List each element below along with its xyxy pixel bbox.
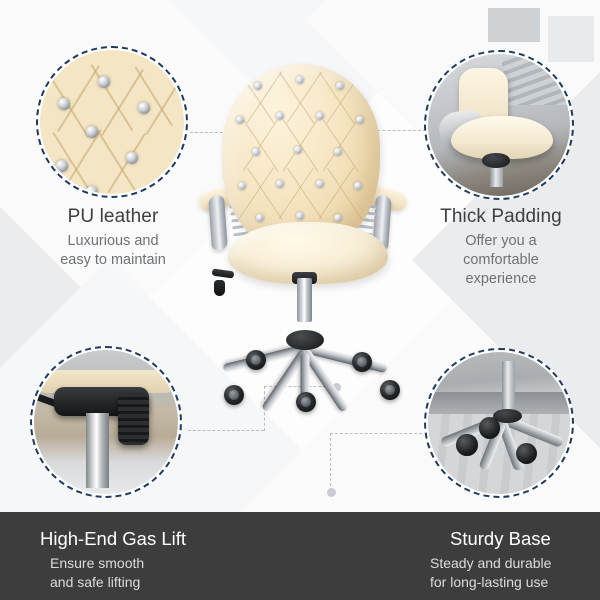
connector-gas-lift	[188, 430, 264, 431]
bg-corner-square-2	[548, 16, 594, 62]
lever-knob	[214, 280, 225, 296]
caption-title-pu-leather: PU leather	[20, 206, 206, 229]
crystal-button	[58, 98, 70, 110]
photo-base-hub	[482, 153, 510, 167]
connector-sturdy-base	[330, 433, 422, 434]
crystal-button	[334, 148, 342, 156]
gas-lift-column	[297, 278, 312, 322]
caption-pu-leather: PU leather Luxurious and easy to maintai…	[20, 206, 206, 270]
photo-gas-cylinder	[86, 413, 109, 488]
caption-thick-padding: Thick Padding Offer you a comfortable ex…	[422, 206, 580, 289]
crystal-button	[154, 182, 166, 194]
crystal-button	[138, 102, 150, 114]
crystal-button	[254, 82, 262, 90]
banner-column-gas-lift: High-End Gas Lift Ensure smooth and safe…	[0, 512, 300, 600]
crystal-button	[252, 148, 260, 156]
crystal-button	[256, 214, 264, 222]
callout-circle-pu-leather	[36, 46, 188, 198]
photo-tension-knob	[118, 393, 150, 445]
crystal-button	[356, 116, 364, 124]
crystal-button	[334, 214, 342, 222]
caster-wheel	[224, 385, 244, 405]
banner-title-sturdy-base: Sturdy Base	[450, 528, 600, 550]
connector-dot-sturdy-base	[327, 488, 336, 497]
crystal-button	[294, 146, 302, 154]
caster-wheel	[246, 350, 266, 370]
banner-body-gas-lift: Ensure smooth and safe lifting	[50, 554, 300, 592]
banner-body-sturdy-base: Steady and durable for long-lasting use	[430, 554, 600, 592]
crystal-button	[98, 76, 110, 88]
base-hub	[286, 330, 324, 350]
crystal-button	[316, 180, 324, 188]
crystal-button	[86, 186, 98, 194]
caster-wheel	[296, 392, 316, 412]
callout-circle-thick-padding	[424, 50, 574, 200]
photo-base-column	[502, 361, 515, 415]
infographic-canvas: PU leather Luxurious and easy to maintai…	[0, 0, 600, 600]
connector-sturdy-base-vertical	[330, 433, 331, 491]
photo-pu-leather-closeup	[40, 50, 184, 194]
crystal-button	[238, 182, 246, 190]
crystal-button	[236, 116, 244, 124]
photo-thick-padding-closeup	[428, 54, 570, 196]
photo-gas-lift-closeup	[34, 350, 178, 494]
callout-circle-sturdy-base	[424, 348, 574, 498]
crystal-button	[336, 82, 344, 90]
bg-corner-square-1	[488, 8, 540, 42]
crystal-button	[56, 160, 68, 172]
banner-title-gas-lift: High-End Gas Lift	[40, 528, 300, 550]
photo-caster	[456, 434, 477, 455]
crystal-button	[276, 180, 284, 188]
crystal-button	[296, 76, 304, 84]
callout-circle-gas-lift	[30, 346, 182, 498]
photo-sturdy-base-closeup	[428, 352, 570, 494]
crystal-button	[126, 152, 138, 164]
crystal-button	[276, 112, 284, 120]
caster-wheel	[352, 352, 372, 372]
photo-blinds	[502, 57, 567, 105]
crystal-button	[354, 182, 362, 190]
bottom-banner: High-End Gas Lift Ensure smooth and safe…	[0, 512, 600, 600]
banner-column-sturdy-base: Sturdy Base Steady and durable for long-…	[300, 512, 600, 600]
photo-caster	[479, 417, 500, 438]
crystal-button	[296, 212, 304, 220]
caption-body-thick-padding: Offer you a comfortable experience	[422, 232, 580, 289]
caption-body-pu-leather: Luxurious and easy to maintain	[20, 232, 206, 270]
caption-title-thick-padding: Thick Padding	[422, 206, 580, 229]
crystal-button	[86, 126, 98, 138]
caster-wheel	[380, 380, 400, 400]
crystal-button	[316, 112, 324, 120]
